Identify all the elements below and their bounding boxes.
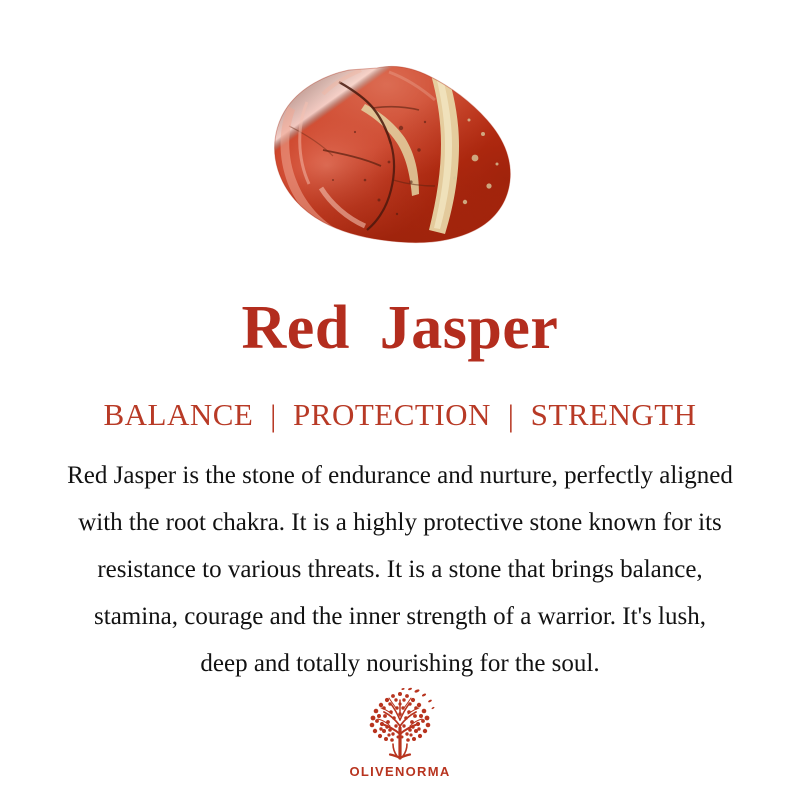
keyword-strip: BALANCE | PROTECTION | STRENGTH [0,396,800,434]
description-line: resistance to various threats. It is a s… [14,546,786,593]
description-text: Red Jasper is the stone of endurance and… [14,452,786,687]
keyword-strength: STRENGTH [531,397,697,432]
red-jasper-stone-image [269,62,531,250]
keyword-balance: BALANCE [103,397,253,432]
description-line: with the root chakra. It is a highly pro… [14,499,786,546]
tree-of-life-icon [360,686,440,762]
description-line: stamina, courage and the inner strength … [14,593,786,640]
brand-logo: OLIVENORMA [0,686,800,779]
description-line: deep and totally nourishing for the soul… [14,640,786,687]
brand-wordmark: OLIVENORMA [349,764,450,779]
product-info-card: Red Jasper BALANCE | PROTECTION | STRENG… [0,0,800,800]
keyword-separator: | [508,397,514,435]
keyword-separator: | [270,397,276,435]
keyword-protection: PROTECTION [293,397,491,432]
stone-image-container [0,58,800,253]
description-line: Red Jasper is the stone of endurance and… [14,452,786,499]
page-title: Red Jasper [0,292,800,364]
